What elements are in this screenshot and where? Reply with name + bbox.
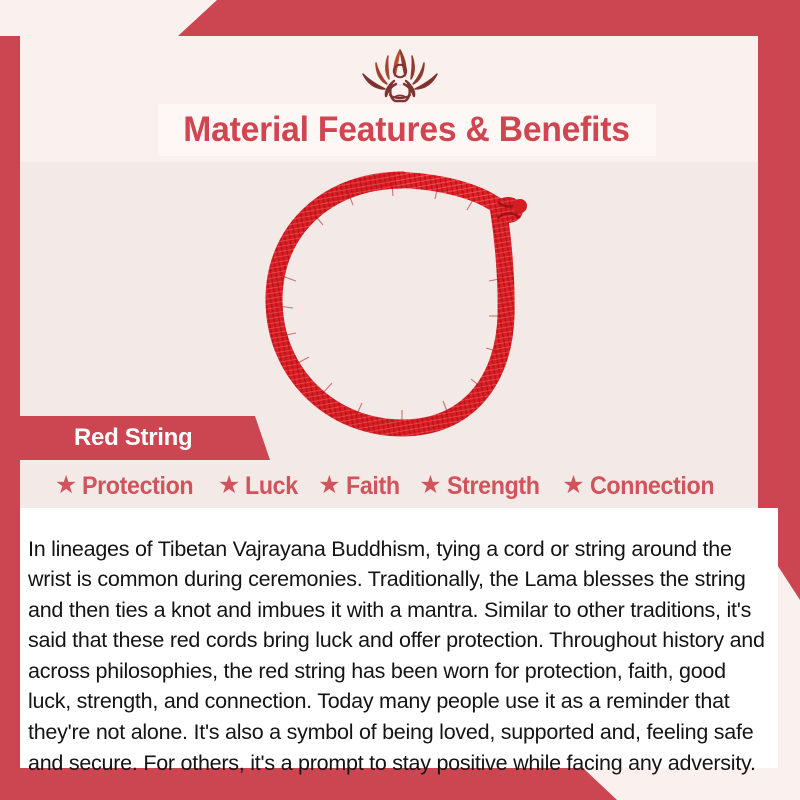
benefit-item-faith: ★ Faith — [311, 472, 410, 501]
top-red-band — [0, 0, 800, 36]
benefit-item-connection: ★ Connection — [555, 472, 730, 501]
title-plate: Material Features & Benefits — [158, 104, 656, 156]
left-red-strip — [0, 36, 20, 800]
benefit-item-protection: ★ Protection — [48, 472, 209, 501]
red-string-bracelet-icon — [252, 166, 552, 442]
benefit-item-strength: ★ Strength — [412, 472, 553, 501]
benefit-label: Strength — [447, 472, 540, 501]
star-icon: ★ — [55, 473, 77, 498]
red-string-ribbon: Red String — [20, 416, 270, 460]
page-title: Material Features & Benefits — [184, 110, 631, 150]
star-icon: ★ — [419, 473, 441, 498]
benefit-item-luck: ★ Luck — [211, 472, 309, 501]
ribbon-label: Red String — [74, 424, 192, 452]
poster-root: BUDDHA STONES Material Features & Benefi… — [0, 0, 800, 800]
star-icon: ★ — [562, 473, 584, 498]
benefit-label: Connection — [590, 472, 714, 501]
description-text: In lineages of Tibetan Vajrayana Buddhis… — [28, 534, 768, 779]
star-icon: ★ — [218, 473, 240, 498]
benefit-label: Protection — [82, 472, 193, 501]
benefits-row: ★ Protection ★ Luck ★ Faith ★ Strength ★… — [20, 466, 758, 506]
benefit-label: Luck — [245, 472, 298, 501]
benefit-label: Faith — [346, 472, 400, 501]
lotus-meditation-icon — [340, 46, 460, 108]
product-image — [252, 166, 552, 442]
star-icon: ★ — [318, 473, 340, 498]
description-panel: In lineages of Tibetan Vajrayana Buddhis… — [20, 508, 778, 768]
